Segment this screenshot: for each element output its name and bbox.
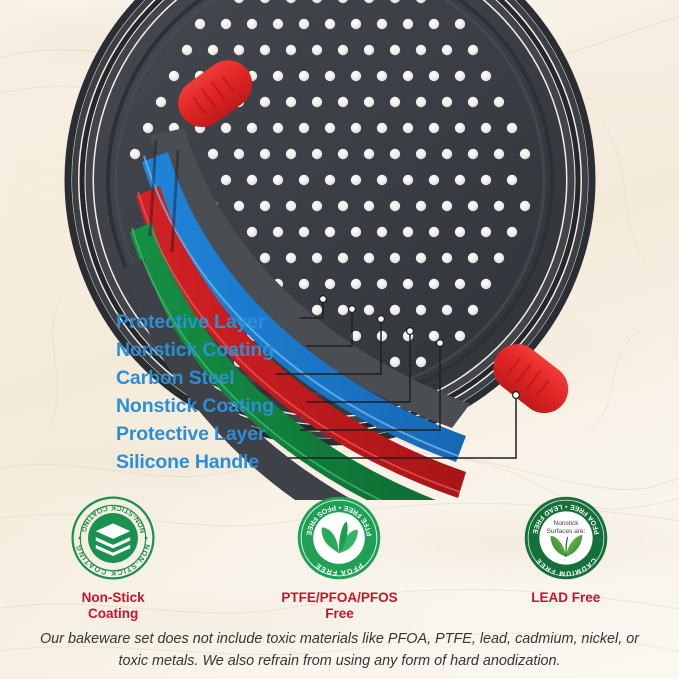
product-infographic: Protective Layer Nonstick Coating Carbon…: [0, 0, 679, 679]
disclaimer-text: Our bakeware set does not include toxic …: [34, 628, 645, 672]
badge-ptfe-pfoa-pfos-free: PTFE FREE • PFOS FREE PFOA FREE PTFE/PFO…: [239, 495, 439, 622]
badge-non-stick-coating: NON-STICK COATING NON-STICK COATING Non-…: [13, 495, 213, 622]
marker-layer-nonstick-bottom: [407, 328, 414, 335]
callout-label-protective-layer-top: Protective Layer: [116, 308, 376, 336]
badge-lead-free: PFOA FREE • LEAD FREE CADMIUM FREE Nonst…: [466, 495, 666, 606]
lead-free-seal-icon: PFOA FREE • LEAD FREE CADMIUM FREE Nonst…: [523, 495, 609, 581]
badge-caption-lead-free: LEAD Free: [531, 590, 600, 606]
ptfe-pfoa-pfos-free-seal-icon: PTFE FREE • PFOS FREE PFOA FREE: [296, 495, 382, 581]
badge-caption-ptfe-pfoa-pfos-free: PTFE/PFOA/PFOS Free: [281, 590, 397, 622]
badge-caption-non-stick-coating: Non-Stick Coating: [82, 590, 145, 622]
marker-silicone-handle: [513, 392, 520, 399]
non-stick-coating-seal-icon: NON-STICK COATING NON-STICK COATING: [70, 495, 156, 581]
badge1-caption-line1: Non-Stick: [82, 590, 145, 605]
badge3-inner-line2: Surfaces are:: [546, 528, 585, 535]
callout-label-nonstick-coating-top: Nonstick Coating: [116, 336, 376, 364]
certification-badge-row: NON-STICK COATING NON-STICK COATING Non-…: [0, 495, 679, 625]
marker-layer-protective-bottom: [437, 340, 444, 347]
marker-layer-carbon-steel: [378, 316, 385, 323]
badge3-inner-line1: Nonstick: [553, 520, 579, 527]
callout-label-nonstick-coating-bottom: Nonstick Coating: [116, 392, 376, 420]
callout-label-protective-layer-bottom: Protective Layer: [116, 420, 376, 448]
callout-label-carbon-steel: Carbon Steel: [116, 364, 376, 392]
badge3-caption-line1: LEAD Free: [531, 590, 600, 605]
badge1-caption-line2: Coating: [88, 606, 138, 621]
callout-label-list: Protective Layer Nonstick Coating Carbon…: [116, 308, 376, 476]
marker-layer-protective-top: [320, 296, 327, 303]
disclaimer-line1: Our bakeware set does not include toxic …: [40, 631, 511, 647]
badge2-caption-line1: PTFE/PFOA/PFOS: [281, 590, 397, 605]
callout-label-silicone-handle: Silicone Handle: [116, 448, 376, 476]
badge2-caption-line2: Free: [325, 606, 354, 621]
